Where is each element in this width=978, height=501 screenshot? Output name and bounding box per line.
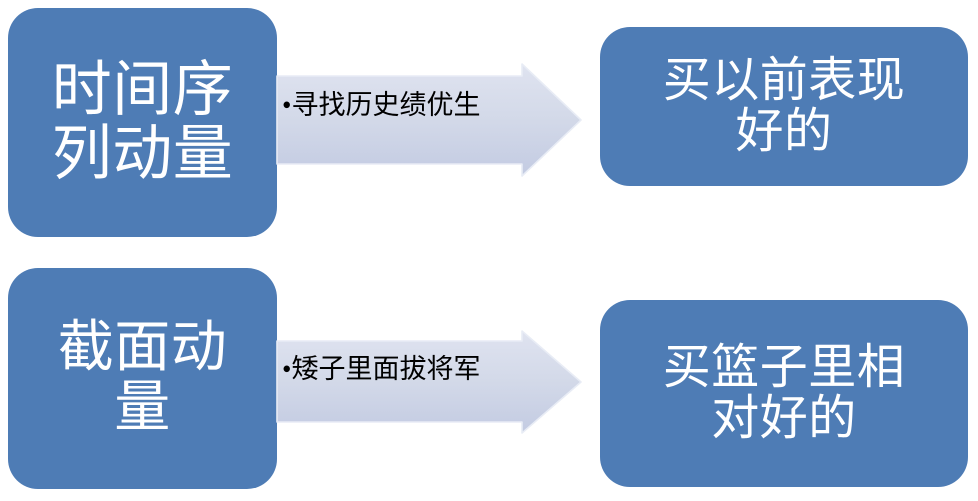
arrow-top-bullet: • <box>282 92 291 119</box>
arrow-top-label: 寻找历史绩优生 <box>291 92 480 119</box>
node-buy-past-winners[interactable]: 买以前表现 好的 <box>600 27 968 186</box>
node-buy-relative-best-label: 买篮子里相 对好的 <box>653 343 916 445</box>
node-buy-past-winners-label: 买以前表现 好的 <box>653 56 916 158</box>
diagram-canvas: 时间序 列动量 •寻找历史绩优生 买以前表现 好的 截面动 量 <box>0 0 978 501</box>
node-time-series-momentum-label: 时间序 列动量 <box>42 59 244 186</box>
arrow-bottom-bullet: • <box>282 356 291 383</box>
arrow-cross-sectional-momentum-caption: •矮子里面拔将军 <box>282 352 522 386</box>
node-cross-sectional-momentum[interactable]: 截面动 量 <box>8 268 277 489</box>
node-time-series-momentum[interactable]: 时间序 列动量 <box>8 8 277 237</box>
arrow-bottom-label: 矮子里面拔将军 <box>291 356 480 383</box>
arrow-time-series-momentum-caption: •寻找历史绩优生 <box>282 88 522 122</box>
node-buy-relative-best[interactable]: 买篮子里相 对好的 <box>600 300 968 487</box>
node-cross-sectional-momentum-label: 截面动 量 <box>48 319 238 438</box>
